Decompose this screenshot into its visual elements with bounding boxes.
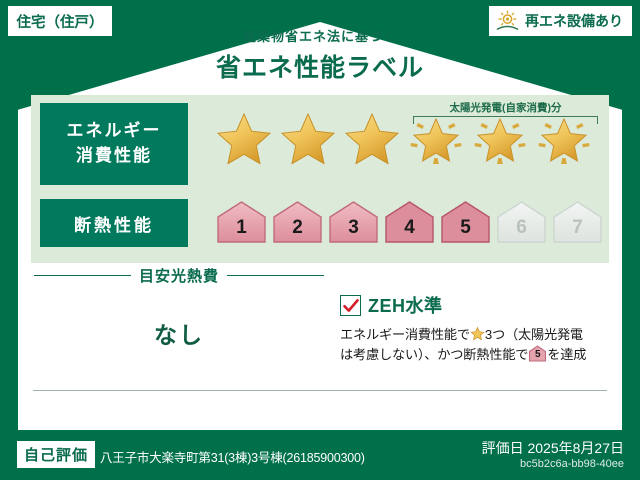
zeh-desc-part1: エネルギー消費性能で bbox=[340, 327, 470, 342]
record-id: bc5b2c6a-bb98-40ee bbox=[520, 458, 624, 470]
zeh-desc-part3: を達成 bbox=[547, 347, 586, 362]
star-2 bbox=[277, 107, 339, 169]
evaluation-date: 評価日 2025年8月27日 bbox=[482, 438, 624, 458]
inline-chip-value: 5 bbox=[528, 347, 547, 363]
insulation-chip-6: 6 bbox=[495, 199, 548, 245]
insulation-chip-1-value: 1 bbox=[215, 217, 268, 239]
insulation-performance-row: 断熱性能 1 2 3 bbox=[31, 199, 609, 251]
property-address: 八王子市大楽寺町第31(3棟)3号棟(26185900300) bbox=[100, 447, 365, 466]
performance-panel: エネルギー 消費性能 太陽光発電(自家消費)分 bbox=[31, 95, 609, 263]
insulation-label-text: 断熱性能 bbox=[74, 211, 154, 236]
cost-rule-right bbox=[227, 275, 324, 277]
insulation-level-scale: 1 2 3 4 5 bbox=[215, 199, 604, 245]
check-icon bbox=[342, 297, 360, 315]
insulation-chip-5-value: 5 bbox=[439, 217, 492, 239]
insulation-chip-1: 1 bbox=[215, 199, 268, 245]
utility-cost-block: 目安光熱費 なし bbox=[34, 265, 324, 350]
insulation-performance-label: 断熱性能 bbox=[40, 199, 188, 247]
utility-cost-heading: 目安光熱費 bbox=[34, 265, 324, 286]
evaluation-type-badge: 自己評価 bbox=[17, 441, 95, 468]
star-4-solar bbox=[405, 107, 467, 169]
inline-star-icon bbox=[470, 326, 485, 341]
insulation-chip-7: 7 bbox=[551, 199, 604, 245]
label-title-group: 建築物省エネ法に基づく 省エネ性能ラベル bbox=[0, 26, 640, 84]
insulation-chip-4-value: 4 bbox=[383, 217, 436, 239]
star-3 bbox=[341, 107, 403, 169]
zeh-block: ZEH水準 エネルギー消費性能で3つ（太陽光発電 は考慮しない）、かつ断熱性能で… bbox=[340, 292, 612, 366]
footer-divider bbox=[33, 390, 607, 391]
zeh-description: エネルギー消費性能で3つ（太陽光発電 は考慮しない）、かつ断熱性能で5を達成 bbox=[340, 325, 612, 366]
cost-rule-left bbox=[34, 275, 131, 277]
insulation-chip-6-value: 6 bbox=[495, 217, 548, 239]
zeh-desc-stars: 3つ（太陽光発電 bbox=[485, 327, 583, 342]
insulation-chip-2-value: 2 bbox=[271, 217, 324, 239]
energy-performance-row: エネルギー 消費性能 太陽光発電(自家消費)分 bbox=[31, 103, 609, 185]
zeh-heading: ZEH水準 bbox=[340, 292, 612, 318]
label-footer: 自己評価 八王子市大楽寺町第31(3棟)3号棟(26185900300) 評価日… bbox=[0, 432, 640, 480]
utility-cost-value: なし bbox=[34, 316, 324, 350]
energy-label-line1: エネルギー bbox=[67, 119, 162, 144]
insulation-chip-5: 5 bbox=[439, 199, 492, 245]
energy-performance-label: エネルギー 消費性能 bbox=[40, 103, 188, 185]
zeh-title: ZEH水準 bbox=[368, 292, 443, 318]
title-subtitle: 建築物省エネ法に基づく bbox=[0, 26, 640, 45]
insulation-chip-3-value: 3 bbox=[327, 217, 380, 239]
insulation-chip-7-value: 7 bbox=[551, 217, 604, 239]
star-6-solar bbox=[533, 107, 595, 169]
zeh-desc-part2: は考慮しない）、かつ断熱性能で bbox=[340, 347, 528, 362]
utility-cost-title: 目安光熱費 bbox=[139, 265, 219, 286]
inline-insulation-chip: 5 bbox=[528, 345, 547, 362]
insulation-chip-4: 4 bbox=[383, 199, 436, 245]
energy-performance-label: 住宅（住戸） 再エネ設備あり 建築物省エネ法に基づく 省エネ性能ラベル bbox=[0, 0, 640, 480]
star-1 bbox=[213, 107, 275, 169]
zeh-checkbox[interactable] bbox=[340, 295, 361, 316]
insulation-chip-3: 3 bbox=[327, 199, 380, 245]
energy-label-line2: 消費性能 bbox=[76, 144, 152, 169]
energy-star-rating bbox=[213, 107, 595, 169]
star-5-solar bbox=[469, 107, 531, 169]
insulation-chip-2: 2 bbox=[271, 199, 324, 245]
page-title: 省エネ性能ラベル bbox=[0, 48, 640, 84]
